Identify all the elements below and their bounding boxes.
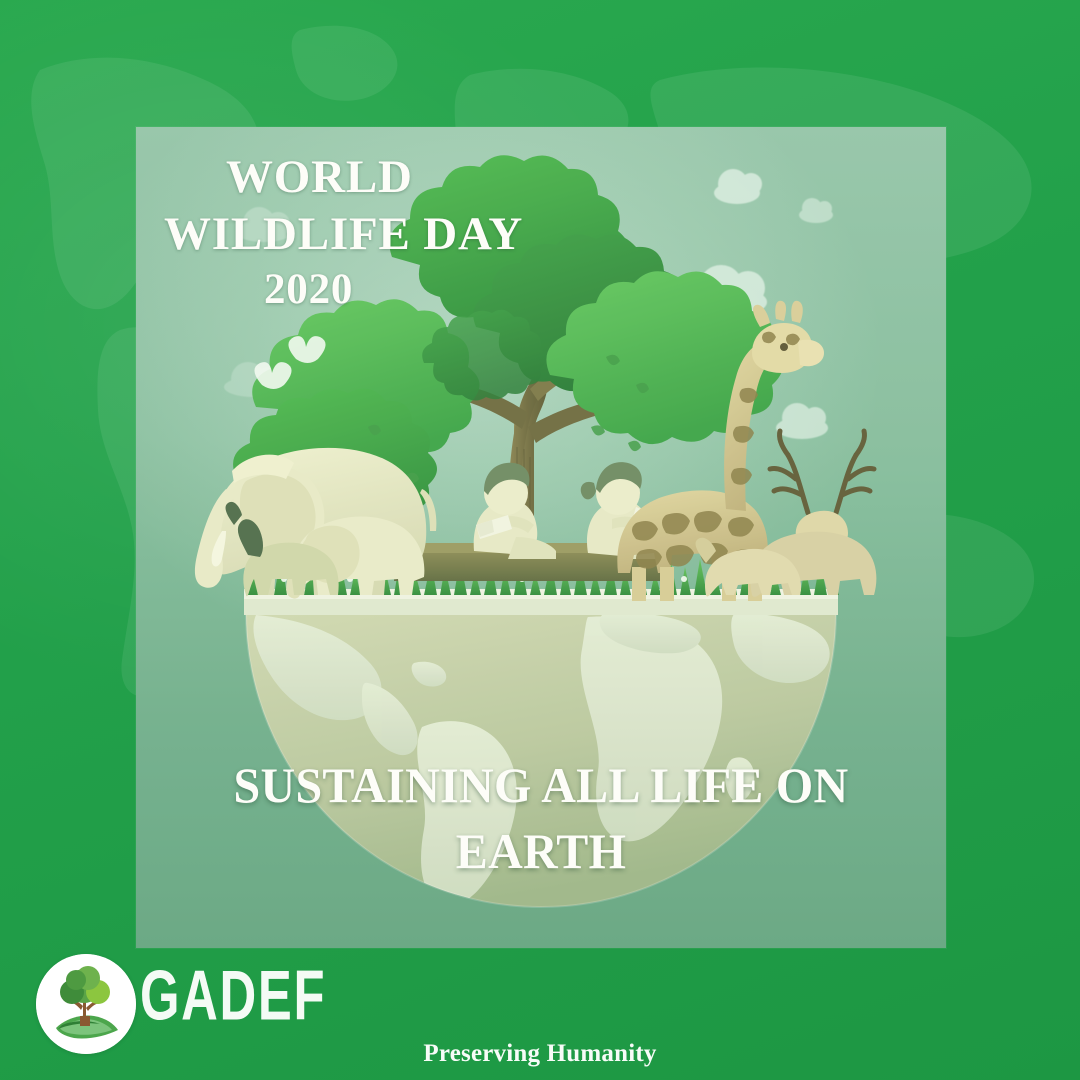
headline-line-3: 2020: [164, 264, 634, 316]
headline-line-2: WILDLIFE DAY: [164, 206, 634, 263]
child-reading-left: [474, 463, 556, 559]
brand-slogan: Preserving Humanity: [0, 1040, 1080, 1068]
poster-artwork-panel: WORLD WILDLIFE DAY 2020 SUSTAINING ALL L…: [136, 127, 946, 948]
tree-in-hand-logo-icon: [36, 954, 136, 1054]
page-title: WORLD WILDLIFE DAY 2020: [164, 149, 634, 316]
brand-name: GADEF: [140, 961, 326, 1032]
brand-footer: GADEF Preserving Humanity: [0, 948, 1080, 1080]
headline-line-1: WORLD: [164, 149, 634, 206]
poster-tagline: SUSTAINING ALL LIFE ON EARTH: [200, 752, 882, 884]
